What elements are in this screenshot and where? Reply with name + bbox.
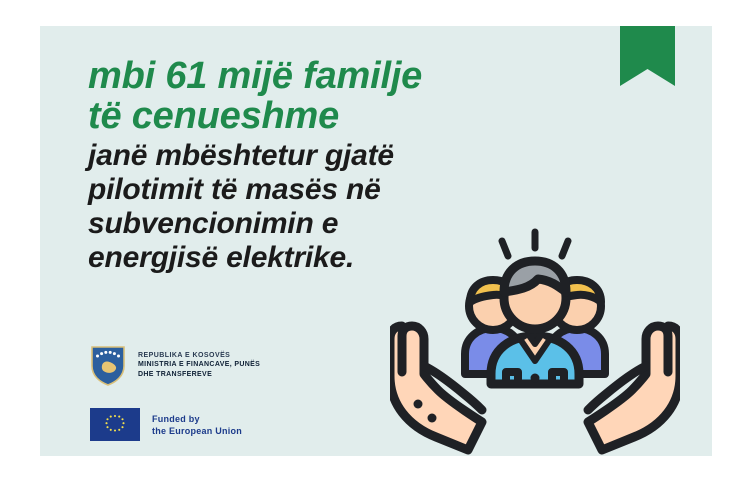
kosovo-logo-row: REPUBLIKA E KOSOVËS MINISTRIA E FINANCAV… <box>90 344 370 386</box>
ministry-line-3: DHE TRANSFEREVE <box>138 370 260 380</box>
ministry-text: REPUBLIKA E KOSOVËS MINISTRIA E FINANCAV… <box>138 351 260 380</box>
headline-line-4: pilotimit të masës në <box>88 173 608 207</box>
headline-line-3: janë mbështetur gjatë <box>88 139 608 173</box>
headline-line-2: të cenueshme <box>88 96 608 136</box>
eu-line-1: Funded by <box>152 413 242 425</box>
eu-logo-row: Funded by the European Union <box>90 408 370 441</box>
ministry-line-2: MINISTRIA E FINANCAVE, PUNËS <box>138 360 260 370</box>
headline-line-1: mbi 61 mijë familje <box>88 56 608 96</box>
eu-line-2: the European Union <box>152 425 242 437</box>
headline-line-1-text: mbi 61 mijë familje <box>88 55 422 97</box>
poster-canvas: mbi 61 mijë familje të cenueshme janë mb… <box>0 0 750 481</box>
ministry-line-1: REPUBLIKA E KOSOVËS <box>138 351 260 361</box>
eu-funding-text: Funded by the European Union <box>152 413 242 437</box>
kosovo-coat-of-arms-icon <box>90 344 126 386</box>
hands-holding-family-icon <box>390 226 680 456</box>
bookmark-ribbon-icon <box>620 26 675 86</box>
poster-panel: mbi 61 mijë familje të cenueshme janë mb… <box>40 26 712 456</box>
logo-block: REPUBLIKA E KOSOVËS MINISTRIA E FINANCAV… <box>90 344 370 441</box>
european-union-flag-icon <box>90 408 140 441</box>
